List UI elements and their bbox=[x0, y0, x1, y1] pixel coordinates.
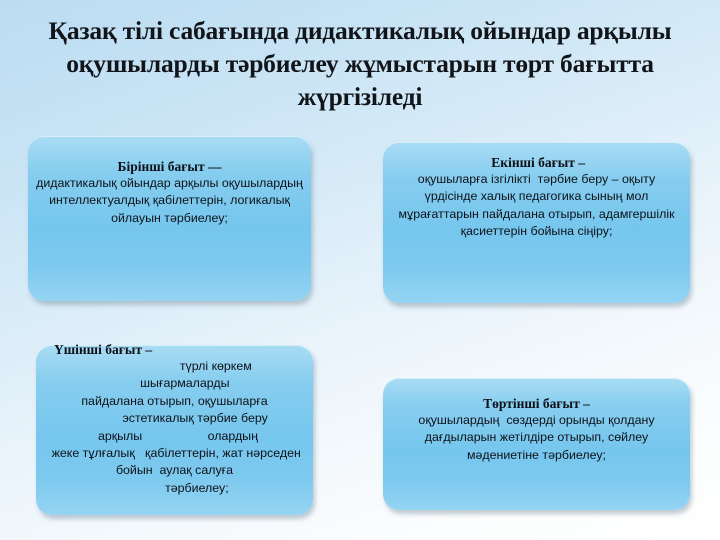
direction-box-2: Екінші бағыт – оқушыларға ізгілікті тәрб… bbox=[383, 142, 690, 303]
direction-box-4: Төртінші бағыт – оқушылардың сөздерді ор… bbox=[383, 378, 690, 510]
direction-box-3-body: түрлі көркем шығармаларды пайдалана отыр… bbox=[42, 358, 307, 497]
direction-box-4-body: оқушылардың сөздерді орынды қолдану дағд… bbox=[391, 412, 682, 464]
direction-box-4-heading: Төртінші бағыт – bbox=[391, 395, 682, 412]
direction-box-1-content: Бірінші бағыт — дидактикалық ойындар арқ… bbox=[28, 158, 311, 227]
direction-box-4-content: Төртінші бағыт – оқушылардың сөздерді ор… bbox=[383, 395, 690, 464]
direction-box-1-heading: Бірінші бағыт — bbox=[36, 158, 303, 175]
direction-box-1-body: дидактикалық ойындар арқылы оқушылардың … bbox=[36, 175, 303, 227]
direction-box-2-content: Екінші бағыт – оқушыларға ізгілікті тәрб… bbox=[383, 154, 690, 241]
slide-canvas: Қазақ тілі сабағында дидактикалық ойында… bbox=[0, 0, 720, 540]
direction-box-1: Бірінші бағыт — дидактикалық ойындар арқ… bbox=[28, 136, 311, 301]
direction-box-3: Үшінші бағыт – түрлі көркем шығармаларды… bbox=[36, 345, 313, 515]
direction-box-3-heading: Үшінші бағыт – bbox=[42, 341, 307, 358]
page-title: Қазақ тілі сабағында дидактикалық ойында… bbox=[42, 14, 678, 113]
direction-box-2-body: оқушыларға ізгілікті тәрбие беру – оқыту… bbox=[391, 171, 682, 241]
direction-box-2-heading: Екінші бағыт – bbox=[391, 154, 682, 171]
direction-box-3-content: Үшінші бағыт – түрлі көркем шығармаларды… bbox=[36, 341, 313, 497]
